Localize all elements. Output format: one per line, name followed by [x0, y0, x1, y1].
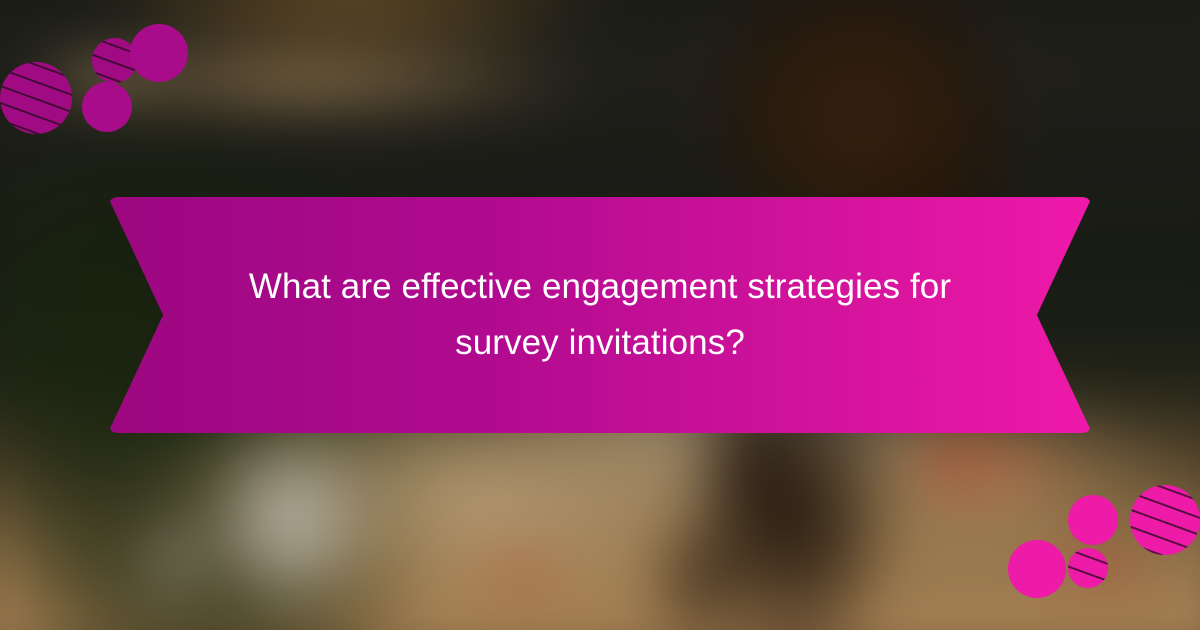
deco-circle-large-striped — [0, 62, 72, 134]
ribbon-banner: What are effective engagement strategies… — [108, 197, 1092, 433]
page-title: What are effective engagement strategies… — [205, 259, 995, 371]
deco-circle-large-plain — [130, 24, 188, 82]
deco-circle-large-striped — [1130, 485, 1200, 555]
deco-circle-small-plain — [82, 82, 132, 132]
deco-circle-medium-plain — [1068, 495, 1118, 545]
deco-circle-small-striped — [1068, 548, 1108, 588]
deco-circle-large-plain — [1008, 540, 1066, 598]
